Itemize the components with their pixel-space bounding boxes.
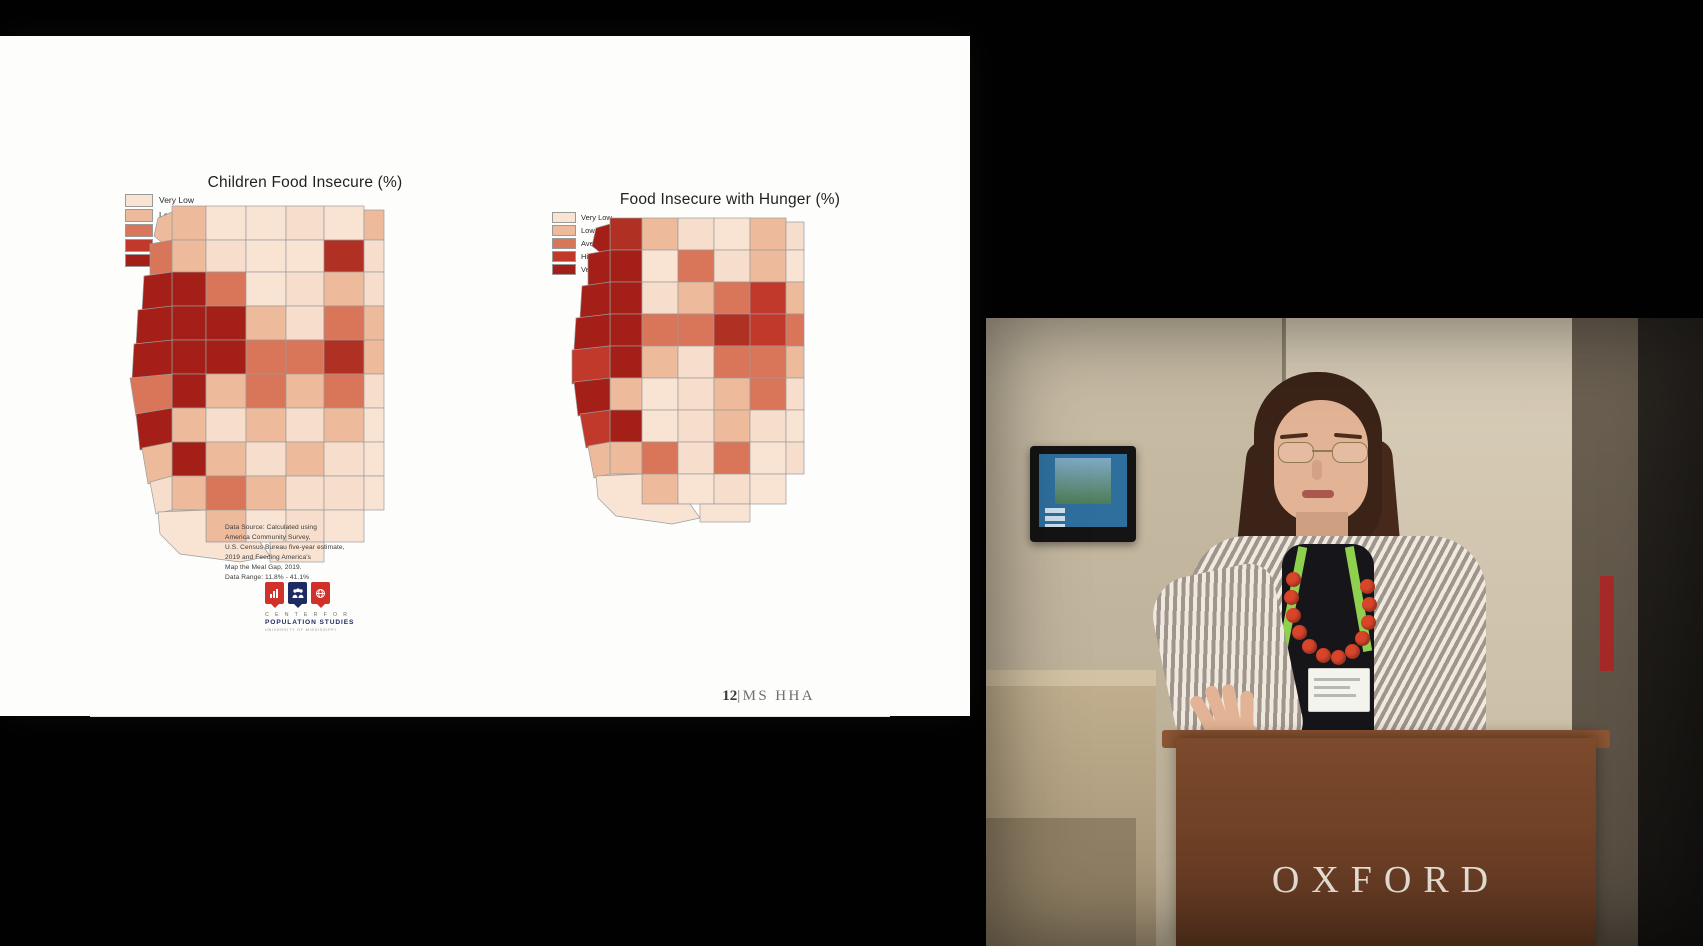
- map-title-left: Children Food Insecure (%): [185, 174, 425, 192]
- badge-text-line: [1314, 694, 1356, 697]
- bead: [1284, 590, 1299, 605]
- bead-necklace: [1282, 568, 1378, 672]
- side-desk-top: [986, 670, 1156, 686]
- bead: [1361, 615, 1376, 630]
- cps-line-3: UNIVERSITY OF MISSISSIPPI: [265, 627, 354, 632]
- slide-divider: [90, 716, 890, 717]
- name-badge: [1308, 668, 1370, 712]
- cps-line-1: C E N T E R F O R: [265, 612, 354, 618]
- cps-logo-left: C E N T E R F O R POPULATION STUDIES UNI…: [265, 582, 354, 632]
- monitor-row: [1045, 524, 1065, 527]
- wall-monitor: [1030, 446, 1136, 542]
- podium: [1176, 738, 1596, 946]
- badge-text-line: [1314, 678, 1360, 681]
- slide: Children Food Insecure (%) Very Low Low …: [0, 36, 970, 716]
- bead: [1302, 639, 1317, 654]
- bar-chart-icon: [265, 582, 284, 604]
- mouth: [1302, 490, 1334, 498]
- cps-line-2: POPULATION STUDIES: [265, 619, 354, 626]
- slide-page-number: 12: [722, 688, 737, 704]
- badge-text-line: [1314, 686, 1350, 689]
- monitor-row: [1045, 516, 1065, 521]
- cps-wordmark: C E N T E R F O R POPULATION STUDIES UNI…: [265, 612, 354, 632]
- speaker-photo: OXFORD: [986, 318, 1703, 946]
- lens-right: [1332, 442, 1368, 463]
- bead: [1286, 608, 1301, 623]
- monitor-image: [1055, 458, 1111, 504]
- speaker: [1162, 356, 1522, 776]
- projection-screen: Children Food Insecure (%) Very Low Low …: [0, 36, 970, 716]
- cps-badge-group: [265, 582, 354, 604]
- map-caption-left: Data Source: Calculated using America Co…: [225, 523, 345, 583]
- presentation-scene: Children Food Insecure (%) Very Low Low …: [0, 0, 1703, 946]
- bead: [1316, 648, 1331, 663]
- monitor-row: [1045, 508, 1065, 513]
- bead: [1355, 631, 1370, 646]
- slide-footer: 12|MS HHA: [722, 688, 815, 705]
- podium-wordmark: OXFORD: [1212, 858, 1560, 902]
- eyeglasses-icon: [1276, 442, 1368, 462]
- monitor-screen: [1039, 454, 1127, 527]
- side-desk-front: [986, 818, 1136, 946]
- red-wall-accent: [1600, 576, 1614, 671]
- bead: [1362, 597, 1377, 612]
- bead: [1360, 579, 1375, 594]
- bead: [1345, 644, 1360, 659]
- wall-far-right: [1638, 318, 1703, 946]
- people-icon: [288, 582, 307, 604]
- globe-icon: [311, 582, 330, 604]
- glasses-bridge: [1312, 450, 1332, 452]
- lens-left: [1278, 442, 1314, 463]
- footer-org: MS HHA: [743, 688, 815, 704]
- nose: [1312, 460, 1322, 480]
- bead: [1292, 625, 1307, 640]
- bead: [1331, 650, 1346, 665]
- map-title-right: Food Insecure with Hunger (%): [590, 191, 870, 209]
- choropleth-map-right: [560, 216, 810, 591]
- bead: [1286, 572, 1301, 587]
- finger: [1240, 691, 1253, 735]
